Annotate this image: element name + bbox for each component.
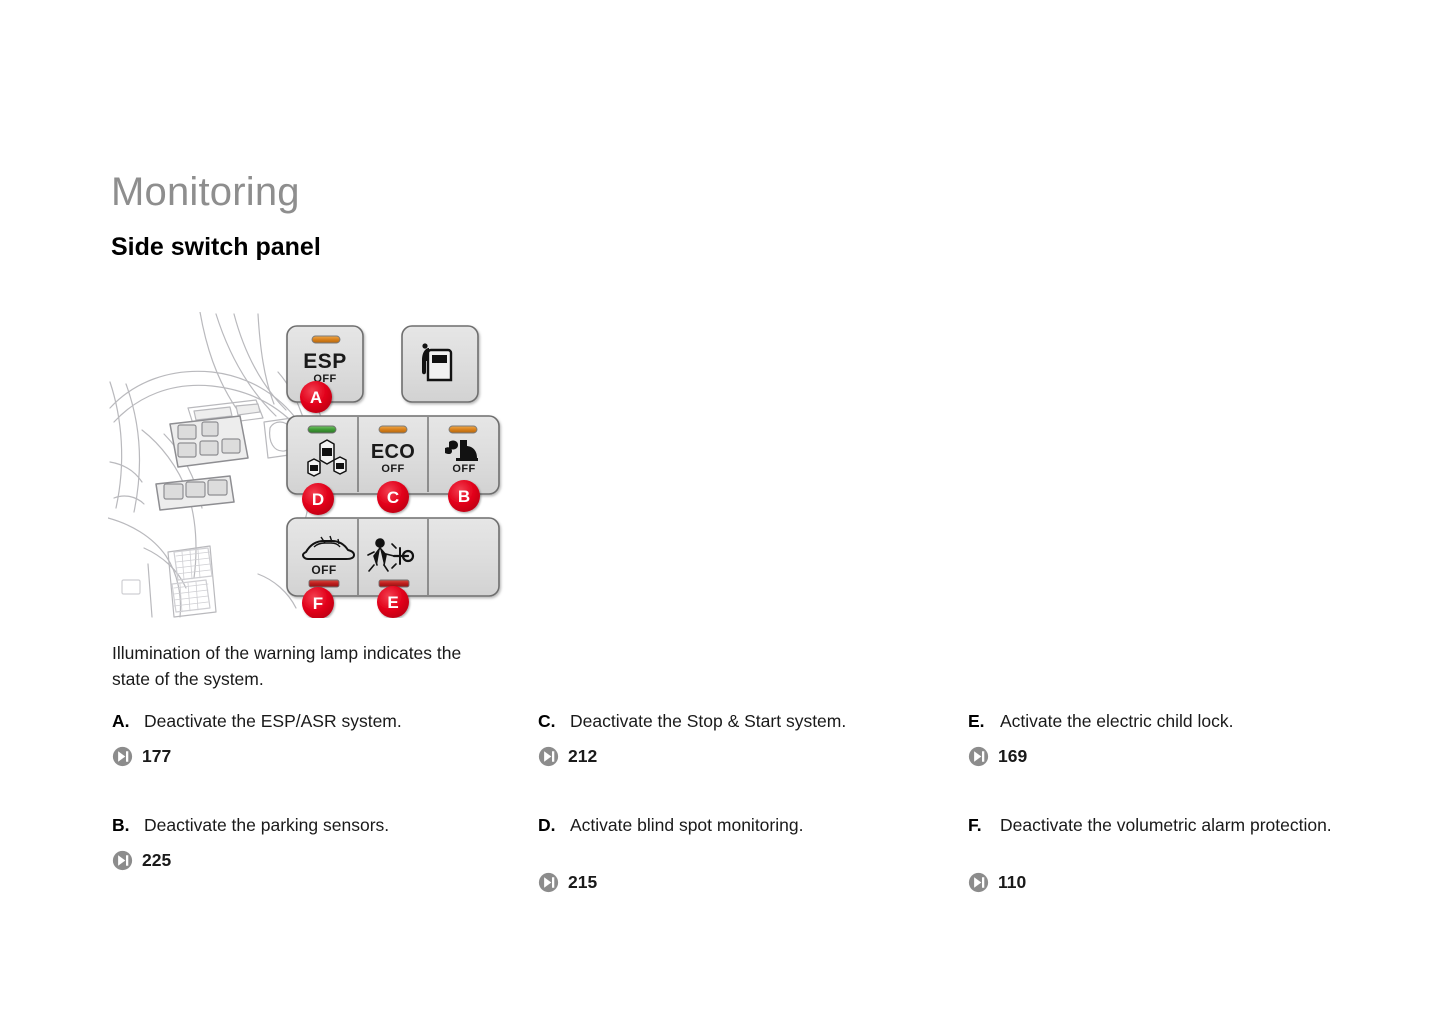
- page-reference[interactable]: 225: [112, 850, 389, 871]
- page-reference-icon: [968, 872, 989, 893]
- callout-E: E: [377, 586, 409, 618]
- reference-letter: A.: [112, 710, 144, 732]
- svg-text:B: B: [458, 487, 470, 506]
- svg-text:E: E: [387, 593, 398, 612]
- callout-D: D: [302, 483, 334, 515]
- reference-letter: B.: [112, 814, 144, 836]
- page-reference[interactable]: 169: [968, 746, 1233, 767]
- svg-text:A: A: [310, 388, 322, 407]
- callout-F: F: [302, 587, 334, 618]
- reference-head: C. Deactivate the Stop & Start system.: [538, 710, 846, 732]
- page-reference[interactable]: 215: [538, 872, 803, 893]
- section-title: Side switch panel: [111, 232, 321, 262]
- child-lock-led: [379, 580, 409, 587]
- blind-spot-led: [308, 426, 336, 433]
- parking-off-label: OFF: [452, 463, 475, 475]
- page-reference-icon: [968, 746, 989, 767]
- reference-text: Deactivate the volumetric alarm protecti…: [1000, 814, 1332, 836]
- svg-text:D: D: [312, 490, 324, 509]
- page-reference-icon: [112, 850, 133, 871]
- reference-head: B. Deactivate the parking sensors.: [112, 814, 389, 836]
- reference-item-a: A. Deactivate the ESP/ASR system. 177: [112, 710, 402, 767]
- side-switch-panel-illustration: ESP OFF: [108, 312, 508, 618]
- esp-label: ESP: [303, 350, 347, 373]
- switch-row-3: OFF: [287, 518, 499, 596]
- reference-letter: C.: [538, 710, 570, 732]
- reference-letter: D.: [538, 814, 570, 836]
- reference-item-b: B. Deactivate the parking sensors. 225: [112, 814, 389, 871]
- illustration-caption: Illumination of the warning lamp indicat…: [112, 640, 502, 692]
- reference-text: Deactivate the Stop & Start system.: [570, 710, 846, 732]
- reference-item-c: C. Deactivate the Stop & Start system. 2…: [538, 710, 846, 767]
- eco-led: [379, 426, 407, 433]
- eco-label: ECO: [371, 441, 415, 463]
- page-reference[interactable]: 212: [538, 746, 846, 767]
- page-number: 212: [568, 748, 597, 766]
- page-number: 177: [142, 748, 171, 766]
- volumetric-led: [309, 580, 339, 587]
- reference-text: Activate blind spot monitoring.: [570, 814, 803, 836]
- page-number: 110: [998, 874, 1026, 892]
- reference-item-f: F. Deactivate the volumetric alarm prote…: [968, 814, 1332, 893]
- reference-head: A. Deactivate the ESP/ASR system.: [112, 710, 402, 732]
- callout-B: B: [448, 480, 480, 512]
- page-number: 169: [998, 748, 1027, 766]
- reference-text: Deactivate the ESP/ASR system.: [144, 710, 402, 732]
- reference-text: Deactivate the parking sensors.: [144, 814, 389, 836]
- page-number: 215: [568, 874, 597, 892]
- reference-head: F. Deactivate the volumetric alarm prote…: [968, 814, 1332, 836]
- page-number: 225: [142, 852, 171, 870]
- reference-letter: E.: [968, 710, 1000, 732]
- svg-text:C: C: [387, 488, 399, 507]
- callout-C: C: [377, 481, 409, 513]
- volumetric-off-label: OFF: [311, 563, 336, 577]
- reference-head: D. Activate blind spot monitoring.: [538, 814, 803, 836]
- reference-item-d: D. Activate blind spot monitoring. 215: [538, 814, 803, 893]
- reference-item-e: E. Activate the electric child lock. 169: [968, 710, 1233, 767]
- esp-led: [312, 336, 340, 343]
- page-title: Monitoring: [111, 172, 300, 212]
- page-reference-icon: [538, 746, 559, 767]
- page-reference[interactable]: 110: [968, 872, 1332, 893]
- reference-text: Activate the electric child lock.: [1000, 710, 1233, 732]
- page-reference-icon: [538, 872, 559, 893]
- reference-letter: F.: [968, 814, 1000, 836]
- parking-led: [449, 426, 477, 433]
- eco-off-label: OFF: [381, 463, 404, 475]
- page-reference-icon: [112, 746, 133, 767]
- callout-A: A: [300, 381, 332, 413]
- reference-head: E. Activate the electric child lock.: [968, 710, 1233, 732]
- page-reference[interactable]: 177: [112, 746, 402, 767]
- svg-text:F: F: [313, 594, 323, 613]
